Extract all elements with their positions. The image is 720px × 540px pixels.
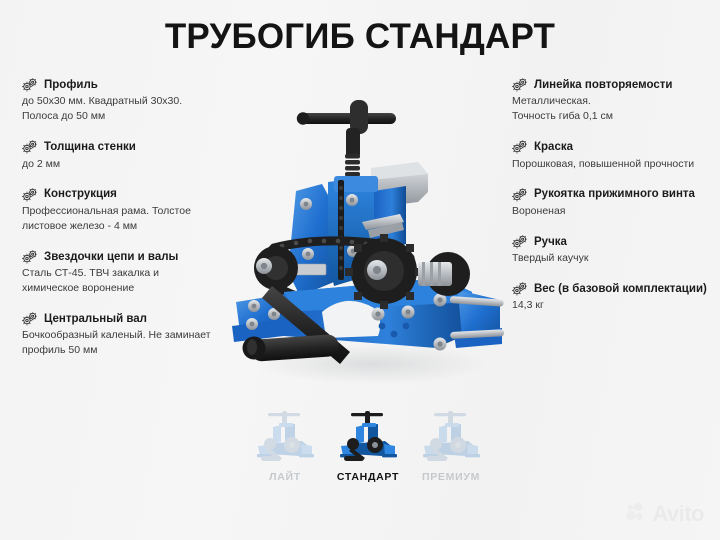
feature-header: Вес (в базовой комплектации) — [512, 282, 720, 296]
feature-header: Линейка повторяемости — [512, 78, 720, 92]
feature-title: Профиль — [44, 78, 98, 92]
feature-description: Вороненая — [512, 204, 720, 219]
feature-description: Порошковая, повышенной прочности — [512, 157, 720, 172]
main-sprocket — [345, 234, 423, 309]
feature-description-line: 14,3 кг — [512, 298, 720, 313]
feature-item: Линейка повторяемостиМеталлическая.Точно… — [512, 78, 720, 124]
feature-title: Линейка повторяемости — [534, 78, 672, 92]
feature-description: до 2 мм — [22, 157, 254, 172]
feature-description-line: до 2 мм — [22, 157, 254, 172]
feature-item: Вес (в базовой комплектации)14,3 кг — [512, 282, 720, 313]
pipe-bender-premium-icon[interactable] — [414, 404, 488, 466]
feature-header: Конструкция — [22, 187, 254, 201]
product-infographic-page: ТРУБОГИБ СТАНДАРТ Профильдо 50х30 мм. Кв… — [0, 0, 720, 540]
gears-icon — [22, 250, 38, 264]
variant-label: ЛАЙТ — [248, 471, 322, 483]
feature-description: Металлическая.Точность гиба 0,1 см — [512, 94, 720, 124]
feature-title: Рукоятка прижимного винта — [534, 187, 695, 201]
gears-icon — [22, 312, 38, 326]
gears-icon — [22, 140, 38, 154]
feature-header: Звездочки цепи и валы — [22, 250, 254, 264]
gears-icon — [22, 78, 38, 92]
feature-description-line: листовое железо - 4 мм — [22, 219, 254, 234]
feature-title: Толщина стенки — [44, 140, 136, 154]
feature-item: Толщина стенкидо 2 мм — [22, 140, 254, 171]
left-sprocket — [254, 246, 298, 290]
feature-description-line: Профессиональная рама. Толстое — [22, 204, 254, 219]
feature-description: до 50х30 мм. Квадратный 30х30.Полоса до … — [22, 94, 254, 124]
feature-description: Бочкообразный каленый. Не заминаетпрофил… — [22, 328, 254, 358]
variant-option-1[interactable]: ЛАЙТ — [248, 404, 322, 483]
feature-description: Профессиональная рама. Толстоелистовое ж… — [22, 204, 254, 234]
feature-description-line: Сталь СТ-45. ТВЧ закалка и — [22, 266, 254, 281]
pipe-bender-light-icon[interactable] — [248, 404, 322, 466]
gears-icon — [512, 235, 528, 249]
variant-option-2[interactable]: СТАНДАРТ — [331, 404, 405, 483]
variant-label: СТАНДАРТ — [331, 471, 405, 483]
feature-column-right: Линейка повторяемостиМеталлическая.Точно… — [512, 78, 720, 313]
feature-description: 14,3 кг — [512, 298, 720, 313]
feature-description-line: химическое воронение — [22, 281, 254, 296]
feature-title: Вес (в базовой комплектации) — [534, 282, 707, 296]
feature-description: Твердый каучук — [512, 251, 720, 266]
page-title: ТРУБОГИБ СТАНДАРТ — [0, 18, 720, 57]
feature-title: Краска — [534, 140, 573, 154]
feature-header: Профиль — [22, 78, 254, 92]
avito-logo-icon — [626, 502, 648, 526]
feature-header: Краска — [512, 140, 720, 154]
product-hero-image — [222, 96, 504, 392]
feature-title: Звездочки цепи и валы — [44, 250, 178, 264]
avito-watermark: Avito — [626, 502, 704, 526]
feature-title: Конструкция — [44, 187, 117, 201]
feature-item: Центральный валБочкообразный каленый. Не… — [22, 312, 254, 358]
feature-description-line: Полоса до 50 мм — [22, 109, 254, 124]
feature-item: КонструкцияПрофессиональная рама. Толсто… — [22, 187, 254, 233]
feature-column-left: Профильдо 50х30 мм. Квадратный 30х30.Пол… — [22, 78, 254, 358]
feature-header: Толщина стенки — [22, 140, 254, 154]
feature-description-line: Точность гиба 0,1 см — [512, 109, 720, 124]
feature-item: Звездочки цепи и валыСталь СТ-45. ТВЧ за… — [22, 250, 254, 296]
gears-icon — [512, 78, 528, 92]
feature-description-line: Порошковая, повышенной прочности — [512, 157, 720, 172]
gears-icon — [512, 188, 528, 202]
feature-header: Ручка — [512, 235, 720, 249]
feature-description-line: профиль 50 мм — [22, 343, 254, 358]
pipe-bender-standard-icon[interactable] — [331, 404, 405, 466]
feature-header: Центральный вал — [22, 312, 254, 326]
feature-header: Рукоятка прижимного винта — [512, 187, 720, 201]
variant-option-3[interactable]: ПРЕМИУМ — [414, 404, 488, 483]
gears-icon — [512, 282, 528, 296]
gears-icon — [22, 188, 38, 202]
feature-item: Профильдо 50х30 мм. Квадратный 30х30.Пол… — [22, 78, 254, 124]
feature-title: Ручка — [534, 235, 567, 249]
feature-description-line: Бочкообразный каленый. Не заминает — [22, 328, 254, 343]
feature-title: Центральный вал — [44, 312, 147, 326]
variant-selector[interactable]: ЛАЙТСТАНДАРТПРЕМИУМ — [248, 404, 488, 483]
gears-icon — [512, 140, 528, 154]
feature-item: КраскаПорошковая, повышенной прочности — [512, 140, 720, 171]
avito-wordmark: Avito — [652, 503, 704, 525]
variant-label: ПРЕМИУМ — [414, 471, 488, 483]
feature-description-line: Твердый каучук — [512, 251, 720, 266]
feature-item: РучкаТвердый каучук — [512, 235, 720, 266]
feature-item: Рукоятка прижимного винтаВороненая — [512, 187, 720, 218]
feature-description-line: Вороненая — [512, 204, 720, 219]
feature-description-line: до 50х30 мм. Квадратный 30х30. — [22, 94, 254, 109]
feature-description-line: Металлическая. — [512, 94, 720, 109]
feature-description: Сталь СТ-45. ТВЧ закалка ихимическое вор… — [22, 266, 254, 296]
